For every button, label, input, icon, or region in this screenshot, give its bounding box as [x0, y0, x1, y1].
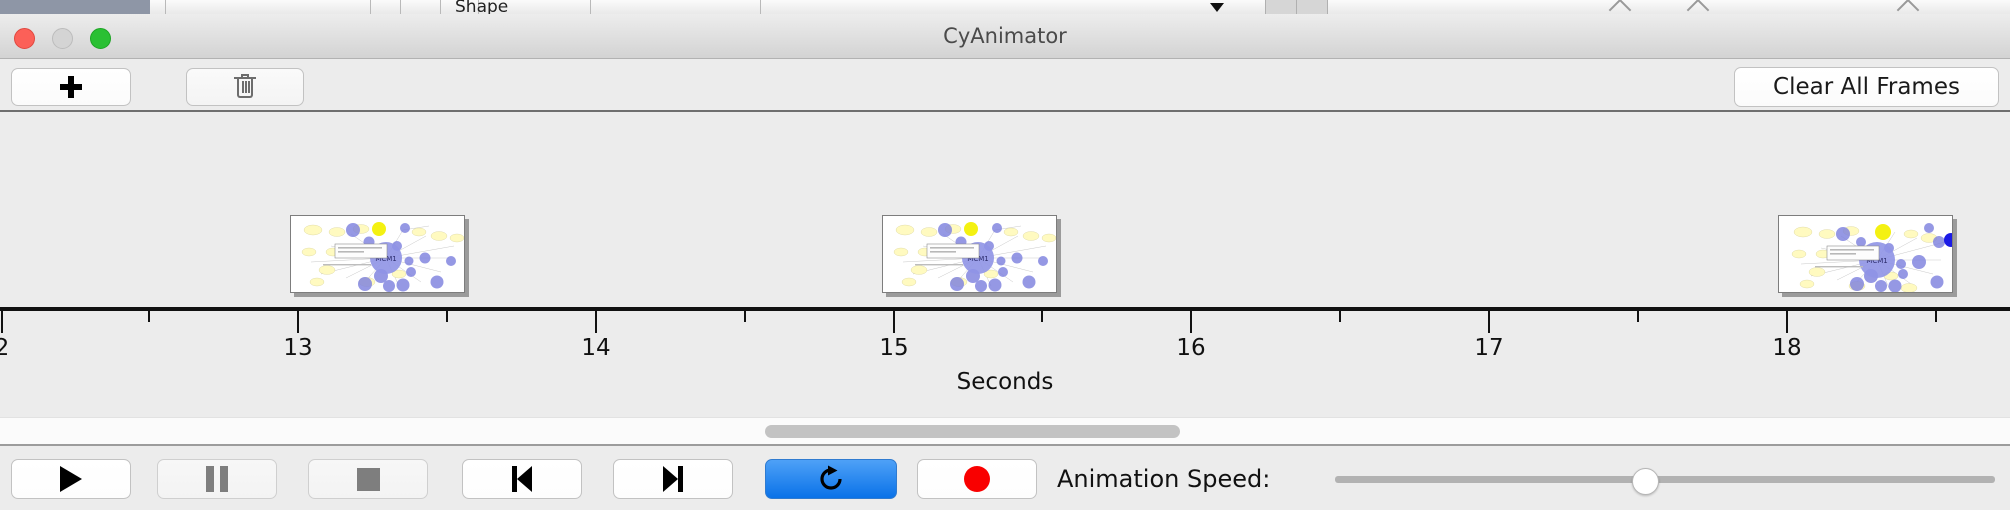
- scrollbar-thumb[interactable]: [765, 425, 1180, 438]
- network-thumbnail-graph: MCM1: [883, 216, 1057, 293]
- pause-icon: [206, 466, 228, 492]
- timeline-frame-thumbnail[interactable]: MCM1: [1778, 215, 1953, 293]
- loop-button[interactable]: [765, 459, 897, 499]
- ruler-tick-minor: [1637, 311, 1639, 322]
- ruler-tick-label: 17: [1474, 335, 1503, 361]
- add-frame-button[interactable]: [11, 68, 131, 106]
- ruler-tick-major: [1488, 311, 1490, 333]
- record-icon: [964, 466, 990, 492]
- ruler-tick-minor: [1339, 311, 1341, 322]
- chevron-icon: [1897, 0, 1920, 15]
- play-button[interactable]: [11, 459, 131, 499]
- chevron-icon: [1687, 0, 1710, 15]
- background-window-label: Shape: [455, 0, 508, 15]
- skip-next-icon: [661, 466, 685, 492]
- ruler-tick-minor: [148, 311, 150, 322]
- delete-frame-button[interactable]: [186, 68, 304, 106]
- background-window-strip: Shape: [0, 0, 2010, 15]
- skip-to-start-button[interactable]: [462, 459, 582, 499]
- ruler-tick-minor: [446, 311, 448, 322]
- timeline-frame-strip[interactable]: MCM1: [0, 112, 2010, 307]
- minimize-button[interactable]: [52, 28, 73, 49]
- background-button: [1265, 0, 1297, 14]
- chevron-icon: [1609, 0, 1632, 15]
- horizontal-scrollbar[interactable]: [0, 417, 2010, 446]
- ruler-tick-major: [595, 311, 597, 333]
- loop-icon: [816, 464, 846, 494]
- background-selected-tab: [0, 0, 150, 14]
- ruler-tick-minor: [1041, 311, 1043, 322]
- ruler-tick-major: [1190, 311, 1192, 333]
- ruler-tick-label: 2: [0, 335, 9, 361]
- pause-button[interactable]: [157, 459, 277, 499]
- plus-icon: [60, 76, 82, 98]
- background-divider: [440, 0, 441, 14]
- record-button[interactable]: [917, 459, 1037, 499]
- playback-controls: Animation Speed:: [0, 448, 2010, 510]
- window-title: CyAnimator: [0, 14, 2010, 58]
- maximize-button[interactable]: [90, 28, 111, 49]
- stop-icon: [357, 468, 380, 491]
- background-divider: [370, 0, 371, 14]
- ruler-tick-major: [1, 311, 3, 333]
- slider-track: [1335, 476, 1995, 483]
- network-thumbnail-graph: MCM1: [291, 216, 465, 293]
- background-divider: [165, 0, 166, 14]
- play-icon: [60, 466, 82, 492]
- ruler-tick-label: 16: [1176, 335, 1205, 361]
- timeline-frame-thumbnail[interactable]: MCM1: [882, 215, 1057, 293]
- ruler-tick-label: 15: [879, 335, 908, 361]
- ruler-tick-major: [1786, 311, 1788, 333]
- ruler-axis-title: Seconds: [0, 369, 2010, 395]
- cyanimator-window: Shape CyAnimator Clear All Frames: [0, 0, 2010, 510]
- trash-icon: [234, 74, 256, 100]
- close-button[interactable]: [14, 28, 35, 49]
- skip-previous-icon: [510, 466, 534, 492]
- title-bar[interactable]: CyAnimator: [0, 14, 2010, 59]
- animation-speed-label: Animation Speed:: [1057, 459, 1270, 499]
- ruler-tick-minor: [1935, 311, 1937, 322]
- stop-button[interactable]: [308, 459, 428, 499]
- background-divider: [590, 0, 591, 14]
- skip-to-end-button[interactable]: [613, 459, 733, 499]
- clear-all-frames-button[interactable]: Clear All Frames: [1734, 67, 1999, 107]
- ruler-tick-label: 13: [283, 335, 312, 361]
- toolbar: Clear All Frames: [0, 59, 2010, 112]
- timeline-frame-thumbnail[interactable]: MCM1: [290, 215, 465, 293]
- ruler-tick-major: [893, 311, 895, 333]
- background-divider: [400, 0, 401, 14]
- ruler-axis-line: [0, 307, 2010, 311]
- ruler-tick-minor: [744, 311, 746, 322]
- background-divider: [760, 0, 761, 14]
- background-button: [1296, 0, 1328, 14]
- background-caret-icon: [1210, 3, 1224, 12]
- timeline-ruler[interactable]: 2 13 14 15 16 17 18 Seconds: [0, 307, 2010, 417]
- network-thumbnail-graph: MCM1: [1779, 216, 1953, 293]
- ruler-tick-label: 18: [1772, 335, 1801, 361]
- ruler-tick-label: 14: [581, 335, 610, 361]
- animation-speed-slider[interactable]: [1335, 459, 1995, 499]
- ruler-tick-major: [297, 311, 299, 333]
- slider-thumb[interactable]: [1632, 468, 1659, 495]
